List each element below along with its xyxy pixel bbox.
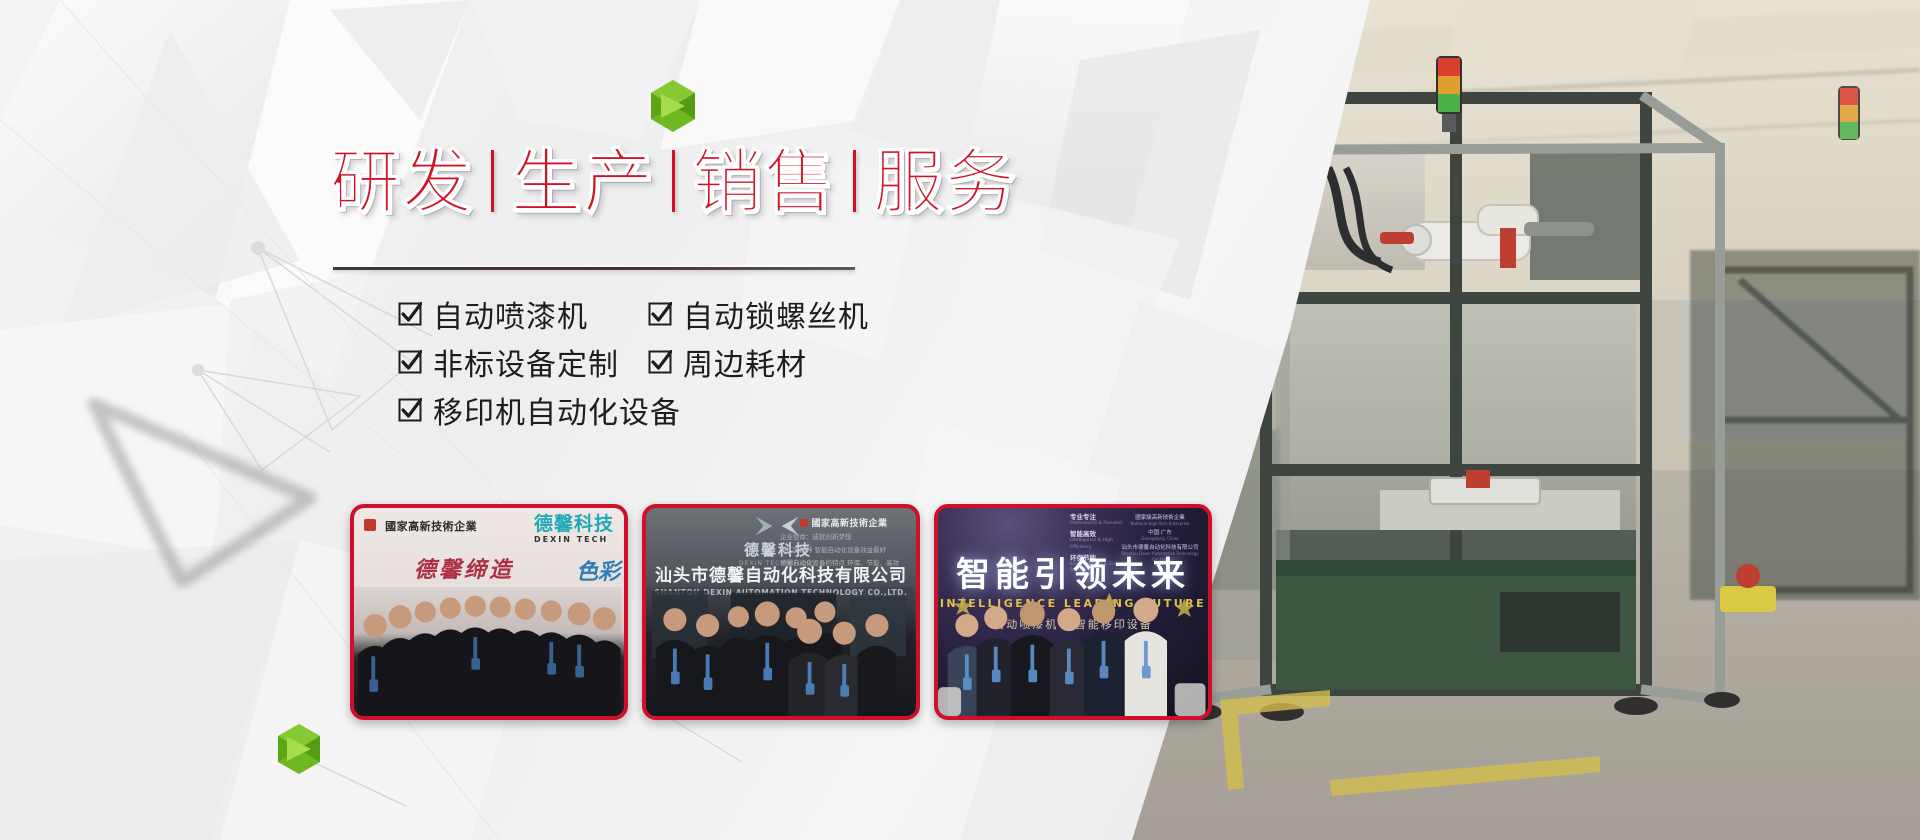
green-hexagon-icon bbox=[645, 78, 701, 134]
photo-thumbnail-strip: 國家高新技術企業 德馨科技 DEXIN TECH 德馨缔造 色彩 bbox=[350, 504, 1212, 720]
booth-script-cn2: 色彩 bbox=[576, 554, 620, 586]
thumbnail-team-photo-exhibition-booth[interactable]: 國家高新技術企業 德馨科技 DEXIN TECH 德馨缔造 色彩 bbox=[350, 504, 628, 720]
headline-word-3: 销售 bbox=[688, 147, 840, 217]
feature-item: 自动喷漆机 bbox=[398, 292, 648, 336]
pillar-en-1: Professional & Focused bbox=[1070, 521, 1126, 528]
thumbnail-image: 德馨科技 DEXIN TECHNOLOGY 國家高新技術企業 企业使命：成就创新… bbox=[646, 508, 916, 716]
tagline-line-2: 用工匠精神 智能自动化设备效益最好 bbox=[780, 545, 908, 555]
feature-item: 非标设备定制 bbox=[398, 340, 648, 384]
headline-separator bbox=[672, 150, 675, 212]
title-divider bbox=[333, 267, 855, 270]
feature-item: 自动锁螺丝机 bbox=[648, 292, 869, 336]
feature-label: 非标设备定制 bbox=[433, 340, 619, 384]
feature-item: 移印机自动化设备 bbox=[398, 388, 681, 432]
wire-node bbox=[192, 364, 204, 376]
checkbox-checked-icon bbox=[648, 302, 672, 326]
feature-row: 移印机自动化设备 bbox=[398, 386, 918, 434]
brand-name-cn: 德馨科技 bbox=[534, 515, 614, 534]
feature-list: 自动喷漆机 自动锁螺丝机 非标设备定制 bbox=[398, 290, 918, 434]
tagline-line-1: 企业使命：成就创新梦想 bbox=[780, 532, 908, 542]
checkbox-checked-icon bbox=[398, 302, 422, 326]
green-hexagon-icon bbox=[272, 722, 326, 776]
company-name-cn: 汕头市德馨自动化科技有限公司 bbox=[646, 561, 916, 586]
thumbnail-image: 國家高新技術企業 德馨科技 DEXIN TECH 德馨缔造 色彩 bbox=[354, 508, 624, 716]
thumbnail-team-photo-intelligence-stage[interactable]: 专业专注 Professional & Focused 智能高效 Intelli… bbox=[934, 504, 1212, 720]
thumbnail-image: 专业专注 Professional & Focused 智能高效 Intelli… bbox=[938, 508, 1208, 716]
high-tech-badge-label: 國家高新技術企業 bbox=[385, 520, 477, 533]
headline-word-4: 服务 bbox=[869, 147, 1021, 217]
feature-row: 自动喷漆机 自动锁螺丝机 bbox=[398, 290, 918, 338]
promo-banner: 研发 生产 销售 服务 自动喷漆机 bbox=[0, 0, 1920, 840]
brand-name-en: DEXIN TECH bbox=[534, 534, 614, 545]
checkbox-checked-icon bbox=[398, 350, 422, 374]
booth-script-cn: 德馨缔造 bbox=[414, 552, 514, 584]
feature-label: 自动锁螺丝机 bbox=[683, 292, 869, 336]
team-group-silhouette bbox=[354, 587, 622, 716]
headline-word-1: 研发 bbox=[326, 147, 478, 217]
pillar-cn-2: 智能高效 bbox=[1070, 531, 1126, 538]
wire-node bbox=[251, 241, 265, 255]
feature-item: 周边耗材 bbox=[648, 340, 807, 384]
emblem-icon bbox=[800, 519, 808, 527]
blurred-triangle-outline bbox=[72, 372, 322, 587]
feature-row: 非标设备定制 周边耗材 bbox=[398, 338, 918, 386]
emblem-icon bbox=[364, 519, 376, 531]
feature-label: 移印机自动化设备 bbox=[433, 388, 681, 432]
pillar-en-2: Intelligence & High Efficiency bbox=[1070, 538, 1126, 552]
dexin-logo: 德馨科技 DEXIN TECH bbox=[534, 515, 614, 545]
stage-note-en-1: National High-Tech Enterprise bbox=[1120, 521, 1200, 527]
stage-note-en-2: Guangdong, China bbox=[1120, 536, 1200, 542]
checkbox-checked-icon bbox=[648, 350, 672, 374]
checkbox-checked-icon bbox=[398, 398, 422, 422]
headline-separator bbox=[491, 150, 494, 212]
thumbnail-team-photo-company-wall[interactable]: 德馨科技 DEXIN TECHNOLOGY 國家高新技術企業 企业使命：成就创新… bbox=[642, 504, 920, 720]
headline-word-2: 生产 bbox=[507, 147, 659, 217]
feature-label: 自动喷漆机 bbox=[433, 292, 588, 336]
high-tech-badge-label: 國家高新技術企業 bbox=[811, 519, 887, 529]
headline-separator bbox=[853, 150, 856, 212]
page-title: 研发 生产 销售 服务 bbox=[326, 131, 1021, 217]
feature-label: 周边耗材 bbox=[683, 340, 807, 384]
team-group-silhouette bbox=[938, 587, 1206, 716]
team-group-silhouette bbox=[646, 587, 914, 716]
